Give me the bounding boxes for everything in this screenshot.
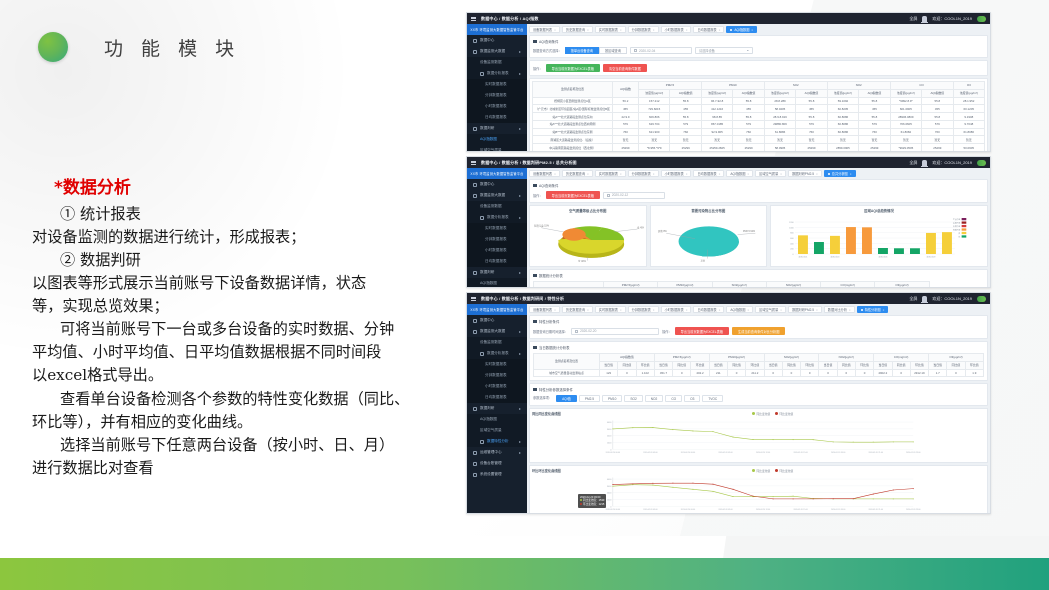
svg-text:2020-02-20 12:00: 2020-02-20 12:00 xyxy=(756,453,770,455)
export-excel-button[interactable]: 导出当前页数据为EXCEL表格 xyxy=(546,64,600,72)
chart-title: 空气质量等级占比分布图 xyxy=(532,208,644,213)
bell-icon[interactable] xyxy=(922,16,927,22)
tab-label: 数据判研PM2.5 xyxy=(792,307,814,312)
tab-设备数据列表[interactable]: 设备数据列表× xyxy=(529,170,560,177)
th-group: NO2(μg/m³) xyxy=(766,282,820,288)
sidebar-item-minute-report[interactable]: 分钟数据报表 xyxy=(467,370,527,381)
sidebar-item-day-report[interactable]: 日均数据报表 xyxy=(467,256,527,267)
panel3-tabbar: 设备数据列表×历史数据查询×实时数据报表×分钟数据报表×小时数据报表×日均数据报… xyxy=(529,306,988,313)
param-pill-AQI值[interactable]: AQI值 xyxy=(556,395,577,402)
bar xyxy=(942,232,952,254)
pie-icon xyxy=(473,271,477,275)
legend-item-yoy[interactable]: 同比变化值 xyxy=(752,412,770,416)
legend-mom: 同比变化值 环比变化值 xyxy=(752,469,793,473)
tab-realtime-report[interactable]: 实时数据报表× xyxy=(595,26,626,33)
sidebar-item-data-center[interactable]: 数据中心 xyxy=(467,315,527,326)
sidebar-item-realtime-report[interactable]: 实时数据报表 xyxy=(467,79,527,90)
param-pill-O3[interactable]: O3 xyxy=(684,395,700,402)
user-label-3: 欢迎：COOL1N_2019 xyxy=(932,296,972,302)
avatar[interactable] xyxy=(977,160,986,166)
sidebar-item-feature-analysis[interactable]: 数据特性分析 xyxy=(467,436,527,447)
cell-aqi: 22.9.9 xyxy=(613,113,639,121)
table-row[interactable]: （广元市）北城新区环境园区/站A区/国际标准监测点位B区455729.82154… xyxy=(533,105,985,113)
export-excel-button-2[interactable]: 导出当前页数据为EXCEL表格 xyxy=(546,191,600,199)
app-screenshot-feature-analysis: 数据中心 / 数据分析 / 数据判研间 / 特性分析 全屏 欢迎：COOL1N_… xyxy=(466,292,991,514)
tab-AQI指数图[interactable]: AQI指数图× xyxy=(726,170,753,177)
panel2-table-title: 数据统计分析表 xyxy=(533,273,984,278)
th-sub: 浓度值(μg/m³) xyxy=(764,89,795,97)
tab-设备数据列表[interactable]: 设备数据列表× xyxy=(529,306,560,313)
th-sub: 环比值 xyxy=(691,361,709,369)
sidebar-item-data-research[interactable]: 数据判研 xyxy=(467,123,527,134)
sidebar-item-device-ledger[interactable]: 设备台账管理 xyxy=(467,458,527,469)
svg-text:2020-02-20 18:00: 2020-02-20 18:00 xyxy=(831,510,845,512)
sidebar-item-region-air[interactable]: 区域空气质量 xyxy=(467,425,527,436)
cell-value: 2912.19 xyxy=(910,369,928,377)
date-input-3[interactable]: 2020-02-20 xyxy=(571,328,659,335)
sidebar-item-monitor-bigdata[interactable]: 数据监测大数据 xyxy=(467,326,527,337)
cell-value: 61.8086 xyxy=(764,128,795,136)
cell-value: 29880.806 xyxy=(764,120,795,128)
close-icon[interactable]: × xyxy=(747,172,749,176)
sidebar-item-hour-report[interactable]: 小时数据报表 xyxy=(467,245,527,256)
th-subrow: 当日值同比值环比值当日值同比值环比值当日值同比值环比值当日值同比值环比值当日值同… xyxy=(534,361,984,369)
param-pill-TVOC[interactable]: TVOC xyxy=(702,395,723,402)
chart-title-yoy: 同比同比变化曲线图 xyxy=(532,411,561,416)
line-series xyxy=(613,428,913,443)
tab-minute-report[interactable]: 分钟数据报表× xyxy=(628,26,659,33)
legend-item-mom[interactable]: 环比变化值 xyxy=(775,412,793,416)
cell-value: 25299 xyxy=(733,144,764,151)
panel2-table-card: 数据统计分析表 监测点名称及位置 PM2.5(μg/m³) PM10(μg/m³… xyxy=(529,269,988,287)
fullscreen-label[interactable]: 全屏 xyxy=(909,16,917,22)
th-sub: 浓度值(μg/m³) xyxy=(827,89,858,97)
aqi-table-body: 梧桐苑小区西侧监测点位A区56.2157.21255.896.7-92.855.… xyxy=(533,97,985,151)
sidebar-item-data-center[interactable]: 数据中心 xyxy=(467,179,527,190)
svg-text:2020-02-20 06:00: 2020-02-20 06:00 xyxy=(681,510,695,512)
tab-实时数据报表[interactable]: 实时数据报表× xyxy=(595,306,626,313)
panel3-table-body: 城市空气质量自动监测站点12301.102451.70402.22110211.… xyxy=(534,369,984,377)
aqi-data-table: 监测点名称及位置 AQI指数 PM2.5 PM10 SO2 NO2 CO O3 … xyxy=(532,81,985,151)
cell-value: 760 xyxy=(670,128,701,136)
active-dot-icon xyxy=(828,173,830,175)
cell-value: 760 xyxy=(796,128,827,136)
svg-text:2020-02-20 06:00: 2020-02-20 06:00 xyxy=(681,453,695,455)
cell-value: 暂无 xyxy=(890,136,921,144)
fullscreen-label[interactable]: 全屏 xyxy=(909,160,917,166)
panel2-stats-table: 监测点名称及位置 PM2.5(μg/m³) PM10(μg/m³) SO2(μg… xyxy=(533,281,984,287)
sidebar-item-minute-report[interactable]: 分钟数据报表 xyxy=(467,90,527,101)
table-row[interactable]: 站A***北大道路段监测点位西向南侧579629.704579867.01855… xyxy=(533,120,985,128)
th-group: O3(μg/m³) xyxy=(929,354,984,362)
tab-label: 总共分析图 xyxy=(832,171,848,176)
close-icon[interactable]: × xyxy=(780,172,782,176)
grid-icon xyxy=(473,183,477,187)
svg-text:监测点位06: 监测点位06 xyxy=(879,254,888,258)
cell-value: 58.0205 xyxy=(764,105,795,113)
query-mode-segmented[interactable]: 按单台设备查询 按区域查询 xyxy=(565,47,627,54)
cell-value: 0 xyxy=(819,369,837,377)
th-station: 监测点名称及位置 xyxy=(533,82,613,98)
cell-value: 暂无 xyxy=(639,136,670,144)
close-icon[interactable]: × xyxy=(850,172,852,176)
tab-区域空气质量[interactable]: 区域空气质量× xyxy=(755,306,786,313)
bar xyxy=(926,233,936,254)
svg-text:3000: 3000 xyxy=(607,429,612,431)
pie1-label-light: 轻度污染 15% xyxy=(534,223,549,227)
sidebar-item-aqi-chart[interactable]: AQI指数图 xyxy=(467,134,527,145)
legend-item-mom[interactable]: 环比变化值 xyxy=(775,469,793,473)
close-icon[interactable]: × xyxy=(686,28,688,32)
svg-text:1000: 1000 xyxy=(607,500,612,502)
th-group: PM10(μg/m³) xyxy=(658,282,712,288)
close-icon[interactable]: × xyxy=(587,172,589,176)
cell-value: 579 xyxy=(670,120,701,128)
close-icon[interactable]: × xyxy=(554,308,556,312)
cell-value: 0 xyxy=(801,369,819,377)
action-label: 操作： xyxy=(533,66,543,71)
tab-分钟数据报表[interactable]: 分钟数据报表× xyxy=(628,170,659,177)
sidebar-item-data-research[interactable]: 数据判研 xyxy=(467,403,527,414)
cell-value: 60.1205 xyxy=(953,105,984,113)
sidebar-item-monitor-bigdata[interactable]: 数据监测大数据 xyxy=(467,46,527,57)
close-icon[interactable]: × xyxy=(554,28,556,32)
tab-数据判研PM2.5[interactable]: 数据判研PM2.5× xyxy=(788,306,822,313)
cell-value: 61.8086 xyxy=(953,128,984,136)
th-sub: 当日值 xyxy=(819,361,837,369)
close-icon[interactable]: × xyxy=(719,28,721,32)
close-icon[interactable]: × xyxy=(849,308,851,312)
close-icon[interactable]: × xyxy=(653,28,655,32)
cell-value: 451.7 xyxy=(654,369,672,377)
calendar-icon xyxy=(575,330,578,333)
sidebar-item-analysis-report[interactable]: 数据分析报表 xyxy=(467,348,527,359)
tab-总共分析图[interactable]: 总共分析图× xyxy=(824,170,856,177)
svg-text:良: 良 xyxy=(958,231,960,235)
cell-aqi: 56.2 xyxy=(613,97,639,105)
sidebar-item-data-research[interactable]: 数据判研 xyxy=(467,267,527,278)
seg-by-device[interactable]: 按单台设备查询 xyxy=(565,47,599,54)
sidebar-item-region-air[interactable]: 区域空气质量 xyxy=(467,145,527,151)
th-sub: 同比值 xyxy=(892,361,910,369)
clear-filters-button[interactable]: 清空当前查询条件数据 xyxy=(603,64,647,72)
chevron-right-icon xyxy=(519,73,521,75)
sidebar-item-day-report[interactable]: 日均数据报表 xyxy=(467,112,527,123)
sidebar-item-system-settings[interactable]: 系统设置管理 xyxy=(467,469,527,480)
cell-value: 579 xyxy=(922,120,953,128)
cell-value: 211 xyxy=(709,369,727,377)
tab-历史数据查询[interactable]: 历史数据查询× xyxy=(562,170,593,177)
cell-value: 50.0905 xyxy=(953,144,984,151)
cell-value: 606.806 xyxy=(639,113,670,121)
sidebar-item-device-data[interactable]: 设备监测数据 xyxy=(467,337,527,348)
sidebar-item-label: 数据中心 xyxy=(480,38,494,43)
date-input[interactable]: 2020-02-04 xyxy=(630,47,692,54)
th-sub: 环比值 xyxy=(965,361,983,369)
tab-label: 分钟数据报表 xyxy=(632,27,651,32)
sidebar-item-device-data[interactable]: 设备监测数据 xyxy=(467,57,527,68)
table-row[interactable]: 站B***北大道路段监测点位东侧760621.90076092.9.905760… xyxy=(533,128,985,136)
close-icon[interactable]: × xyxy=(751,28,753,32)
th-station: 监测点名称及位置 xyxy=(534,282,604,288)
th-sub: 浓度值(μg/m³) xyxy=(701,89,732,97)
close-icon[interactable]: × xyxy=(816,308,818,312)
cell-station: 站B***北大道路段监测点位东侧 xyxy=(533,128,613,136)
cell-value: 455 xyxy=(796,105,827,113)
tab-AQI指数图[interactable]: AQI指数图× xyxy=(726,306,753,313)
tab-label: 分钟数据报表 xyxy=(632,307,651,312)
cell-value: 暂无 xyxy=(733,136,764,144)
panel1-content: 设备数据列表× 历史数据查询× 实时数据报表× 分钟数据报表× 小时数据报表× … xyxy=(527,24,990,151)
sidebar-item-realtime-report[interactable]: 实时数据报表 xyxy=(467,359,527,370)
pie2-label-pm25: PM2.5 92% xyxy=(743,231,755,233)
tab-label: 小时数据报表 xyxy=(665,307,684,312)
generate-compare-button[interactable]: 生成当前查询条件对比分析图 xyxy=(732,327,785,335)
fullscreen-label[interactable]: 全屏 xyxy=(909,296,917,302)
th-group: NO2(μg/m³) xyxy=(819,354,874,362)
th-sub: 当日值 xyxy=(929,361,947,369)
tab-label: 小时数据报表 xyxy=(665,171,684,176)
svg-text:800: 800 xyxy=(790,233,794,235)
svg-text:2020-02-20 09:00: 2020-02-20 09:00 xyxy=(718,453,732,455)
tab-label: 区域空气质量 xyxy=(759,307,778,312)
sidebar-item-analysis-report[interactable]: 数据分析报表 xyxy=(467,68,527,79)
th-group: CO(mg/m³) xyxy=(821,282,875,288)
cell-value: 28906.0809 xyxy=(890,113,921,121)
close-icon[interactable]: × xyxy=(780,308,782,312)
pie-icon xyxy=(473,127,477,131)
app-screenshot-overview-charts: 数据中心 / 数据分析 / 数据判研PM2.5 / 总共分析图 全屏 欢迎：CO… xyxy=(466,156,991,288)
close-icon[interactable]: × xyxy=(587,28,589,32)
pie2-label-other: 其他 8% xyxy=(658,229,667,233)
svg-text:2020-02-20 18:00: 2020-02-20 18:00 xyxy=(831,453,845,455)
close-icon[interactable]: × xyxy=(620,28,622,32)
tab-hour-report[interactable]: 小时数据报表× xyxy=(661,26,692,33)
svg-text:重度污染: 重度污染 xyxy=(953,220,961,224)
hamburger-icon[interactable] xyxy=(471,160,476,165)
section-marker-icon xyxy=(533,40,537,43)
device-select[interactable]: 请选择设备 xyxy=(695,47,753,54)
param-pill-PM2.5[interactable]: PM2.5 xyxy=(579,395,600,402)
sidebar-item-day-report[interactable]: 日均数据报表 xyxy=(467,392,527,403)
chevron-right-icon xyxy=(519,452,521,454)
chevron-right-icon xyxy=(519,441,521,443)
th-sub: 浓度值(μg/m³) xyxy=(953,89,984,97)
sidebar-item-hour-report[interactable]: 小时数据报表 xyxy=(467,101,527,112)
body-line-10: 环比等），并有相应的变化曲线。 xyxy=(32,411,462,434)
close-icon[interactable]: × xyxy=(719,172,721,176)
tab-分钟数据报表[interactable]: 分钟数据报表× xyxy=(628,306,659,313)
cell-value: 1.9 xyxy=(965,369,983,377)
cell-value: 暂无 xyxy=(764,136,795,144)
panel2-filter-title: AQI查询条件 xyxy=(533,183,984,188)
param-label: 参数选择项： xyxy=(533,395,552,402)
chart-title: 首要污染物占比分布图 xyxy=(653,208,765,213)
tab-日均数据报表[interactable]: 日均数据报表× xyxy=(693,170,724,177)
cell-value: 55.8 xyxy=(922,97,953,105)
table-row[interactable]: 站A***北大道路段监测点位东向22.9.9606.80655.898.8.85… xyxy=(533,113,985,121)
bar xyxy=(862,227,872,254)
tab-aqi-chart[interactable]: AQI指数图× xyxy=(726,26,757,33)
tab-小时数据报表[interactable]: 小时数据报表× xyxy=(661,306,692,313)
chevron-right-icon xyxy=(519,331,521,333)
cell-station: 城市空气质量自动监测站点 xyxy=(534,369,600,377)
chevron-right-icon xyxy=(519,353,521,355)
sidebar-item-hour-report[interactable]: 小时数据报表 xyxy=(467,381,527,392)
body-copy: *数据分析 ① 统计报表 对设备监测的数据进行统计，形成报表； ② 数据判研 以… xyxy=(32,176,462,480)
table-row[interactable]: 中兴路南苑路段监测点位（西北侧）25299*8.955.*9*925299252… xyxy=(533,144,985,151)
sidebar-item-ops-center[interactable]: 运维管理中心 xyxy=(467,447,527,458)
tab-history-query[interactable]: 历史数据查询× xyxy=(562,26,593,33)
close-icon[interactable]: × xyxy=(653,172,655,176)
close-icon[interactable]: × xyxy=(719,308,721,312)
table-row[interactable]: 梧桐苑小区西侧监测点位A区56.2157.21255.896.7-92.855.… xyxy=(533,97,985,105)
tab-历史数据查询[interactable]: 历史数据查询× xyxy=(562,306,593,313)
th-sub: 当日值 xyxy=(874,361,892,369)
param-pill-NO2[interactable]: NO2 xyxy=(645,395,664,402)
svg-text:2020-02-20 23:00: 2020-02-20 23:00 xyxy=(906,453,920,455)
sidebar-item-analysis-report[interactable]: 数据分析报表 xyxy=(467,212,527,223)
tab-label: 设备数据列表 xyxy=(533,171,552,176)
bar xyxy=(798,235,808,254)
hamburger-icon[interactable] xyxy=(471,296,476,301)
chart-pie-air-quality-grade: 空气质量等级占比分布图 良 45% xyxy=(529,205,647,267)
cell-value: 55.8 xyxy=(796,97,827,105)
close-icon[interactable]: × xyxy=(816,172,818,176)
cell-value: 55.8 xyxy=(922,113,953,121)
cell-value: 123 xyxy=(600,369,618,377)
hamburger-icon[interactable] xyxy=(471,16,476,21)
cell-value: 28.8.289 xyxy=(764,97,795,105)
sidebar-3: XX市 环境监测大数据智慧监管平台 数据中心 数据监测大数据 设备监测数据 数据… xyxy=(467,304,527,513)
app-screenshot-aqi-table: 数据中心 / 数据分析 / AQI指数 全屏 欢迎：COOL1N_2019 XX… xyxy=(466,12,991,152)
th-sub: 同比值 xyxy=(618,361,636,369)
svg-text:2000: 2000 xyxy=(607,436,612,438)
sidebar-item-device-data[interactable]: 设备监测数据 xyxy=(467,201,527,212)
user-label-1: 欢迎：COOL1N_2019 xyxy=(932,16,972,22)
table-row[interactable]: 城市空气质量自动监测站点12301.102451.70402.22110211.… xyxy=(534,369,984,377)
tab-数据判研PM2.5[interactable]: 数据判研PM2.5× xyxy=(788,170,822,177)
bell-icon[interactable] xyxy=(922,296,927,302)
sidebar-item-realtime-report[interactable]: 实时数据报表 xyxy=(467,223,527,234)
tab-label: 实时数据报表 xyxy=(599,27,618,32)
avatar[interactable] xyxy=(977,16,986,22)
tab-特性分析图[interactable]: 特性分析图× xyxy=(857,306,889,313)
close-icon[interactable]: × xyxy=(554,172,556,176)
sidebar-item-data-center[interactable]: 数据中心 xyxy=(467,35,527,46)
tab-数据对比分析[interactable]: 数据对比分析× xyxy=(824,306,855,313)
sidebar-item-monitor-bigdata[interactable]: 数据监测大数据 xyxy=(467,190,527,201)
breadcrumb-2: 数据中心 / 数据分析 / 数据判研PM2.5 / 总共分析图 xyxy=(481,160,577,166)
th-group-co: CO xyxy=(890,82,953,90)
tab-区域空气质量[interactable]: 区域空气质量× xyxy=(755,170,786,177)
close-icon[interactable]: × xyxy=(620,308,622,312)
app-topbar-3: 数据中心 / 数据分析 / 数据判研间 / 特性分析 全屏 欢迎：COOL1N_… xyxy=(467,293,990,304)
close-icon[interactable]: × xyxy=(587,308,589,312)
sidebar-item-minute-report[interactable]: 分钟数据报表 xyxy=(467,234,527,245)
tab-label: 历史数据查询 xyxy=(566,171,585,176)
panel1-tabbar: 设备数据列表× 历史数据查询× 实时数据报表× 分钟数据报表× 小时数据报表× … xyxy=(529,26,988,33)
cell-station: 站A***北大道路段监测点位西向南侧 xyxy=(533,120,613,128)
body-line-5: 等，实现总览效果； xyxy=(32,295,462,318)
tab-device-list[interactable]: 设备数据列表× xyxy=(529,26,560,33)
sidebar-item-aqi-chart[interactable]: AQI指数图 xyxy=(467,414,527,425)
panel2-filter-card: AQI查询条件 操作： 导出当前页数据为EXCEL表格 2020-02-12 xyxy=(529,179,988,203)
bell-icon[interactable] xyxy=(922,160,927,166)
cell-value: 2902.2 xyxy=(874,369,892,377)
svg-text:2020-02-20 00:00: 2020-02-20 00:00 xyxy=(606,453,620,455)
param-pill-CO[interactable]: CO xyxy=(665,395,682,402)
tab-实时数据报表[interactable]: 实时数据报表× xyxy=(595,170,626,177)
cell-value: 55.8 xyxy=(859,97,890,105)
tab-label: 历史数据查询 xyxy=(566,27,585,32)
cell-value: 601.0905 xyxy=(890,105,921,113)
bar xyxy=(830,236,840,254)
cell-value: 暂无 xyxy=(796,136,827,144)
th-sub: 浓度值(μg/m³) xyxy=(639,89,670,97)
panel3-table-title: 当日数据统计分析表 xyxy=(533,345,984,350)
close-icon[interactable]: × xyxy=(620,172,622,176)
close-icon[interactable]: × xyxy=(883,308,885,312)
svg-text:0: 0 xyxy=(793,254,795,256)
close-icon[interactable]: × xyxy=(686,172,688,176)
th-sub: AQI指数值 xyxy=(859,89,890,97)
close-icon[interactable]: × xyxy=(747,308,749,312)
cell-value: 706.0605 xyxy=(890,120,921,128)
param-pill-SO2[interactable]: SO2 xyxy=(624,395,642,402)
table-row[interactable]: 南湖区大道路段监测点位-（后续）暂无暂无暂无暂无暂无暂无暂无暂无暂无暂无暂无暂无 xyxy=(533,136,985,144)
breadcrumb-1: 数据中心 / 数据分析 / AQI指数 xyxy=(481,16,539,22)
tab-day-report[interactable]: 日均数据报表× xyxy=(693,26,724,33)
avatar[interactable] xyxy=(977,296,986,302)
th-sub: AQI指数值 xyxy=(733,89,764,97)
sidebar-item-aqi-chart[interactable]: AQI指数图 xyxy=(467,278,527,287)
export-excel-button-3[interactable]: 导出当前页数据为EXCEL表格 xyxy=(675,327,729,335)
cell-value: 1.7 xyxy=(929,369,947,377)
cell-value: *9929.0505 xyxy=(890,144,921,151)
svg-text:200: 200 xyxy=(790,249,794,251)
tab-小时数据报表[interactable]: 小时数据报表× xyxy=(661,170,692,177)
th-sub: 同比值 xyxy=(673,361,691,369)
svg-text:3000: 3000 xyxy=(607,486,612,488)
cell-value: 暂无 xyxy=(701,136,732,144)
tab-日均数据报表[interactable]: 日均数据报表× xyxy=(693,306,724,313)
tab-label: 历史数据查询 xyxy=(566,307,585,312)
param-pill-PM10[interactable]: PM10 xyxy=(602,395,622,402)
pie-chart-1-svg: 良 45% 轻度污染 15% 优 40% xyxy=(532,214,644,262)
seg-by-region[interactable]: 按区域查询 xyxy=(599,47,627,54)
cell-value: 55.8 xyxy=(670,97,701,105)
filter-label: 数据查询方式选择： xyxy=(533,48,562,53)
cell-value: *9992.8.9* xyxy=(890,97,921,105)
legend-item-yoy[interactable]: 同比变化值 xyxy=(752,469,770,473)
pie1-label-excellent: 优 40% xyxy=(578,259,586,262)
close-icon[interactable]: × xyxy=(653,308,655,312)
section-marker-icon xyxy=(533,346,537,349)
th-sub: 同比值 xyxy=(782,361,800,369)
tab-label: AQI指数图 xyxy=(730,171,745,176)
svg-text:监测点位09: 监测点位09 xyxy=(927,254,936,258)
cell-value: 61.8082 xyxy=(890,128,921,136)
svg-text:2020-02-20 21:00: 2020-02-20 21:00 xyxy=(869,510,883,512)
svg-text:优: 优 xyxy=(958,234,960,238)
tab-label: 实时数据报表 xyxy=(599,171,618,176)
body-heading: *数据分析 xyxy=(54,176,462,202)
close-icon[interactable]: × xyxy=(686,308,688,312)
cell-value: 暂无 xyxy=(827,136,858,144)
date-input-2[interactable]: 2020-02-12 xyxy=(603,192,665,199)
svg-text:1200: 1200 xyxy=(789,222,794,224)
